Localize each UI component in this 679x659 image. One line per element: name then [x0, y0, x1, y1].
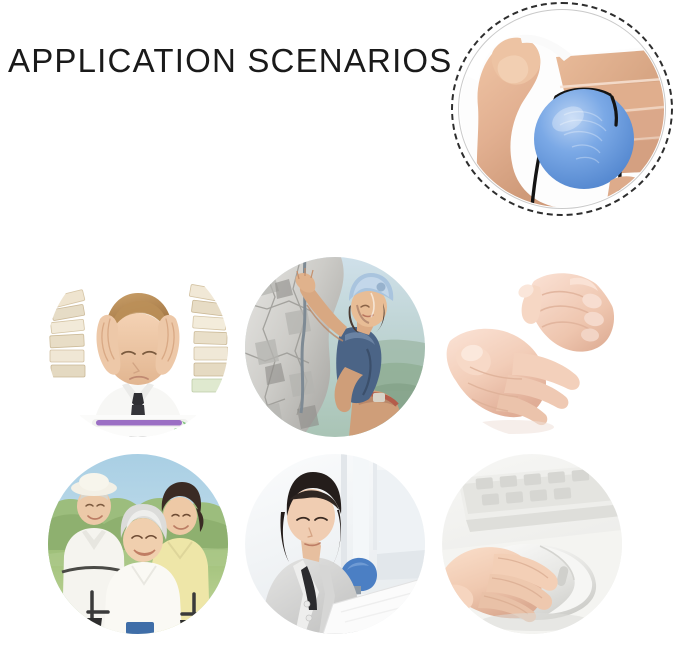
scenario-photo-office-work [245, 454, 425, 634]
scenario-photo-computer-mouse [442, 454, 622, 634]
scenario-photo-hand-massage [442, 257, 622, 437]
scenario-photo-grid [48, 257, 622, 634]
scenario-photo-student-stress [48, 257, 228, 437]
scenario-photo-elderly-care [48, 454, 228, 634]
page-title: APPLICATION SCENARIOS [8, 44, 453, 77]
hand-holding-blue-stress-ball-photo [460, 11, 664, 207]
hero-product-image [451, 2, 673, 216]
scenario-photo-rock-climbing [245, 257, 425, 437]
